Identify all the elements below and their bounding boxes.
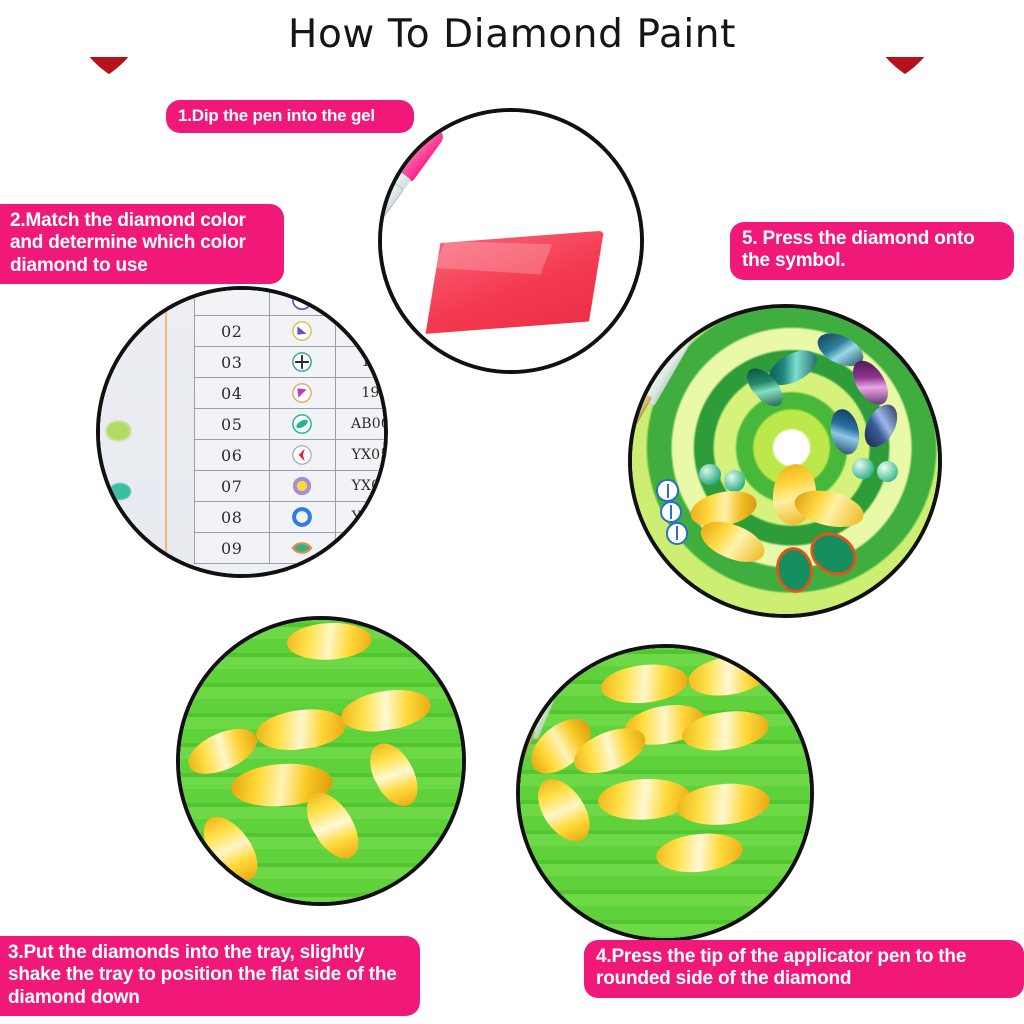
legend-code: 05 xyxy=(194,409,269,440)
legend-row: 02093 xyxy=(194,316,388,347)
legend-row: 07YX083 xyxy=(194,471,388,502)
step-2-photo: 02802093031110419505AB00406YX05807YX0830… xyxy=(96,286,388,578)
legend-dmc-number: YX058 xyxy=(335,440,388,471)
step-5-photo xyxy=(628,304,942,618)
color-symbol-legend-table: 02802093031110419505AB00406YX05807YX0830… xyxy=(194,286,388,564)
step-2-label: 2.Match the diamond color and determine … xyxy=(0,204,284,284)
legend-code: 03 xyxy=(194,347,269,378)
legend-dmc-number: 093 xyxy=(335,316,388,347)
legend-code: 04 xyxy=(194,378,269,409)
page-title-text: How To Diamond Paint xyxy=(272,12,752,57)
infographic-canvas: How To Diamond Paint 1.Dip the pen into … xyxy=(0,0,1024,1024)
legend-code: 07 xyxy=(194,471,269,502)
placed-round-gem xyxy=(852,458,873,479)
teal-ellipse-circle-icon xyxy=(269,409,335,440)
legend-dmc-number: YX083 xyxy=(335,471,388,502)
step-4-photo xyxy=(516,644,814,942)
double-dot-circle-icon xyxy=(269,286,335,316)
blue-ring-icon xyxy=(269,502,335,533)
legend-code: 06 xyxy=(194,440,269,471)
canvas-green-mark xyxy=(106,421,132,441)
legend-dmc-number: 195 xyxy=(335,378,388,409)
legend-rows: 02802093031110419505AB00406YX05807YX0830… xyxy=(194,286,388,564)
step-5-label: 5. Press the diamond onto the symbol. xyxy=(730,222,1014,280)
legend-row: 03111 xyxy=(194,347,388,378)
step-1-label: 1.Dip the pen into the gel xyxy=(166,100,414,133)
step-3-label: 3.Put the diamonds into the tray, slight… xyxy=(0,936,420,1016)
step-1-photo xyxy=(378,108,644,374)
magenta-triangle-circle-icon xyxy=(269,378,335,409)
step-4-label: 4.Press the tip of the applicator pen to… xyxy=(584,940,1024,998)
legend-dmc-number: YX106 xyxy=(335,502,388,533)
plus-circle-icon xyxy=(269,347,335,378)
legend-dmc-number: YX125 xyxy=(335,533,388,564)
legend-dmc-number: 028 xyxy=(335,286,388,316)
legend-row: 04195 xyxy=(194,378,388,409)
red-chevron-circle-icon xyxy=(269,440,335,471)
legend-row: 08YX106 xyxy=(194,502,388,533)
step-3-photo xyxy=(176,616,466,906)
legend-row: 028 xyxy=(194,286,388,316)
legend-row: 09YX125 xyxy=(194,533,388,564)
green-leaf-orange-outline-icon xyxy=(269,533,335,564)
legend-dmc-number: 111 xyxy=(335,347,388,378)
legend-row: 06YX058 xyxy=(194,440,388,471)
filled-triangle-circle-icon xyxy=(269,316,335,347)
legend-row: 05AB004 xyxy=(194,409,388,440)
legend-code: 02 xyxy=(194,316,269,347)
yellow-dot-purple-ring-icon xyxy=(269,471,335,502)
page-title: How To Diamond Paint xyxy=(0,12,1024,57)
legend-code xyxy=(194,286,269,316)
legend-dmc-number: AB004 xyxy=(335,409,388,440)
legend-code: 08 xyxy=(194,502,269,533)
legend-code: 09 xyxy=(194,533,269,564)
